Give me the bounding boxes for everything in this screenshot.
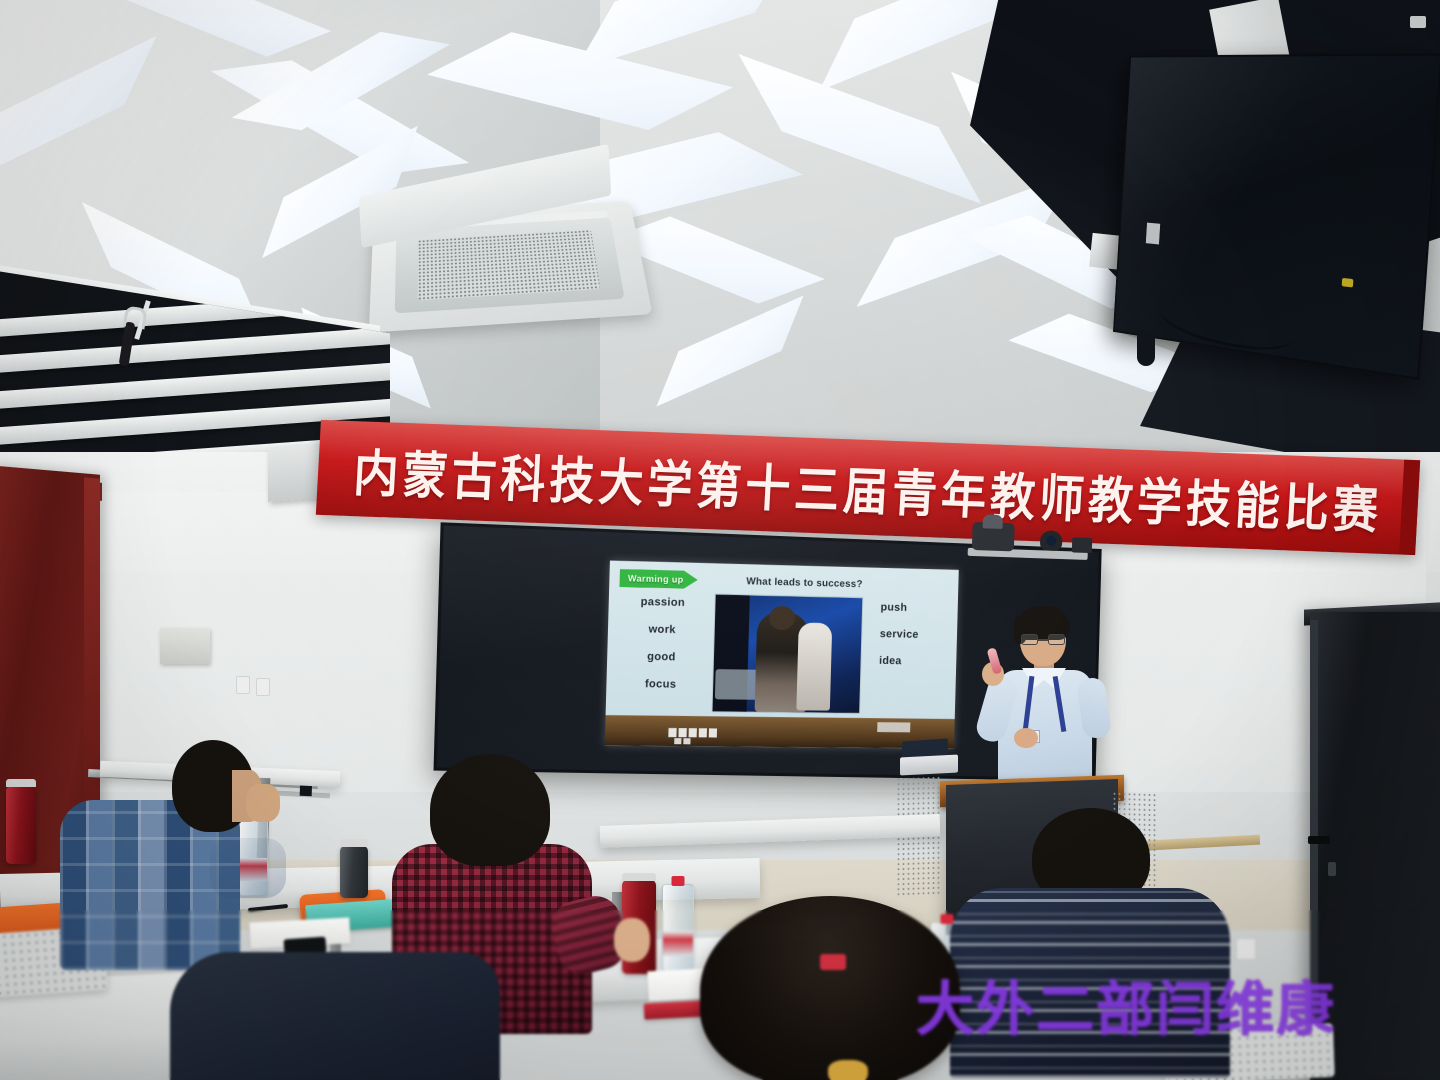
audience-hand xyxy=(614,918,650,962)
ptz-camera-icon xyxy=(972,522,1015,551)
presenter-right-hand xyxy=(1014,728,1038,748)
presenter xyxy=(986,612,1106,794)
slide-word: good xyxy=(647,651,676,664)
ceiling-mounted-tv[interactable] xyxy=(1113,53,1440,380)
control-button[interactable] xyxy=(699,728,707,737)
lectern-keyboard[interactable] xyxy=(900,754,958,775)
audience-hand xyxy=(246,784,280,822)
thermos-bottle xyxy=(6,786,36,864)
classroom-photo-scene: 内蒙古科技大学第十三届青年教师教学技能比赛 Warming up What le… xyxy=(0,0,1440,1080)
thermos-bottle xyxy=(340,846,368,898)
ceiling-light-panel xyxy=(639,295,821,407)
slide-word: idea xyxy=(879,655,902,667)
tv-status-led-icon xyxy=(1342,278,1354,288)
ceiling xyxy=(0,0,1440,452)
camera-control-box xyxy=(1072,537,1093,553)
tv-label xyxy=(1146,223,1160,245)
display-brand-label xyxy=(877,722,910,732)
audience-member xyxy=(170,952,510,1080)
camera-rig xyxy=(961,526,1102,565)
slide-word: work xyxy=(648,623,676,636)
slide-word: push xyxy=(880,601,907,613)
hair-clip xyxy=(820,954,846,970)
navy-jacket xyxy=(170,952,500,1080)
slide-word: service xyxy=(880,628,919,641)
audience-arm xyxy=(210,838,286,898)
wall-outlet[interactable] xyxy=(236,676,250,694)
slide-words-right: push service idea xyxy=(879,601,945,667)
webcam-icon xyxy=(1040,530,1063,551)
slide-control-buttons-row2[interactable] xyxy=(674,738,690,744)
slide-title: What leads to success? xyxy=(609,573,958,593)
control-button[interactable] xyxy=(709,728,717,737)
control-button[interactable] xyxy=(683,738,690,744)
slide-word: passion xyxy=(641,596,686,609)
wall-outlet[interactable] xyxy=(256,678,270,696)
audience-head xyxy=(430,754,550,866)
slide-embedded-video xyxy=(711,594,863,714)
control-button[interactable] xyxy=(674,738,681,744)
slide-control-buttons[interactable] xyxy=(668,728,717,738)
slide-words-left: passion work good focus xyxy=(625,596,699,691)
audience-member xyxy=(60,742,290,982)
control-button[interactable] xyxy=(678,728,686,737)
presenter-lanyard xyxy=(1026,676,1064,734)
control-button[interactable] xyxy=(689,728,697,737)
control-button[interactable] xyxy=(668,728,676,737)
water-bottle xyxy=(662,884,694,972)
slide-word: focus xyxy=(645,678,677,691)
tv-mount-bracket xyxy=(1137,330,1155,366)
hair-tie xyxy=(828,1060,868,1080)
wall-mounted-box xyxy=(160,628,210,664)
video-person-light xyxy=(796,622,832,710)
glasses-icon xyxy=(1020,634,1066,645)
presentation-slide: Warming up What leads to success? passio… xyxy=(605,561,959,749)
cabinet-lock-icon[interactable] xyxy=(1328,862,1336,876)
banner-clip xyxy=(1410,16,1426,28)
photo-watermark: 大外二部闫维康 xyxy=(916,962,1336,1046)
cabinet-handle[interactable] xyxy=(1308,836,1330,844)
